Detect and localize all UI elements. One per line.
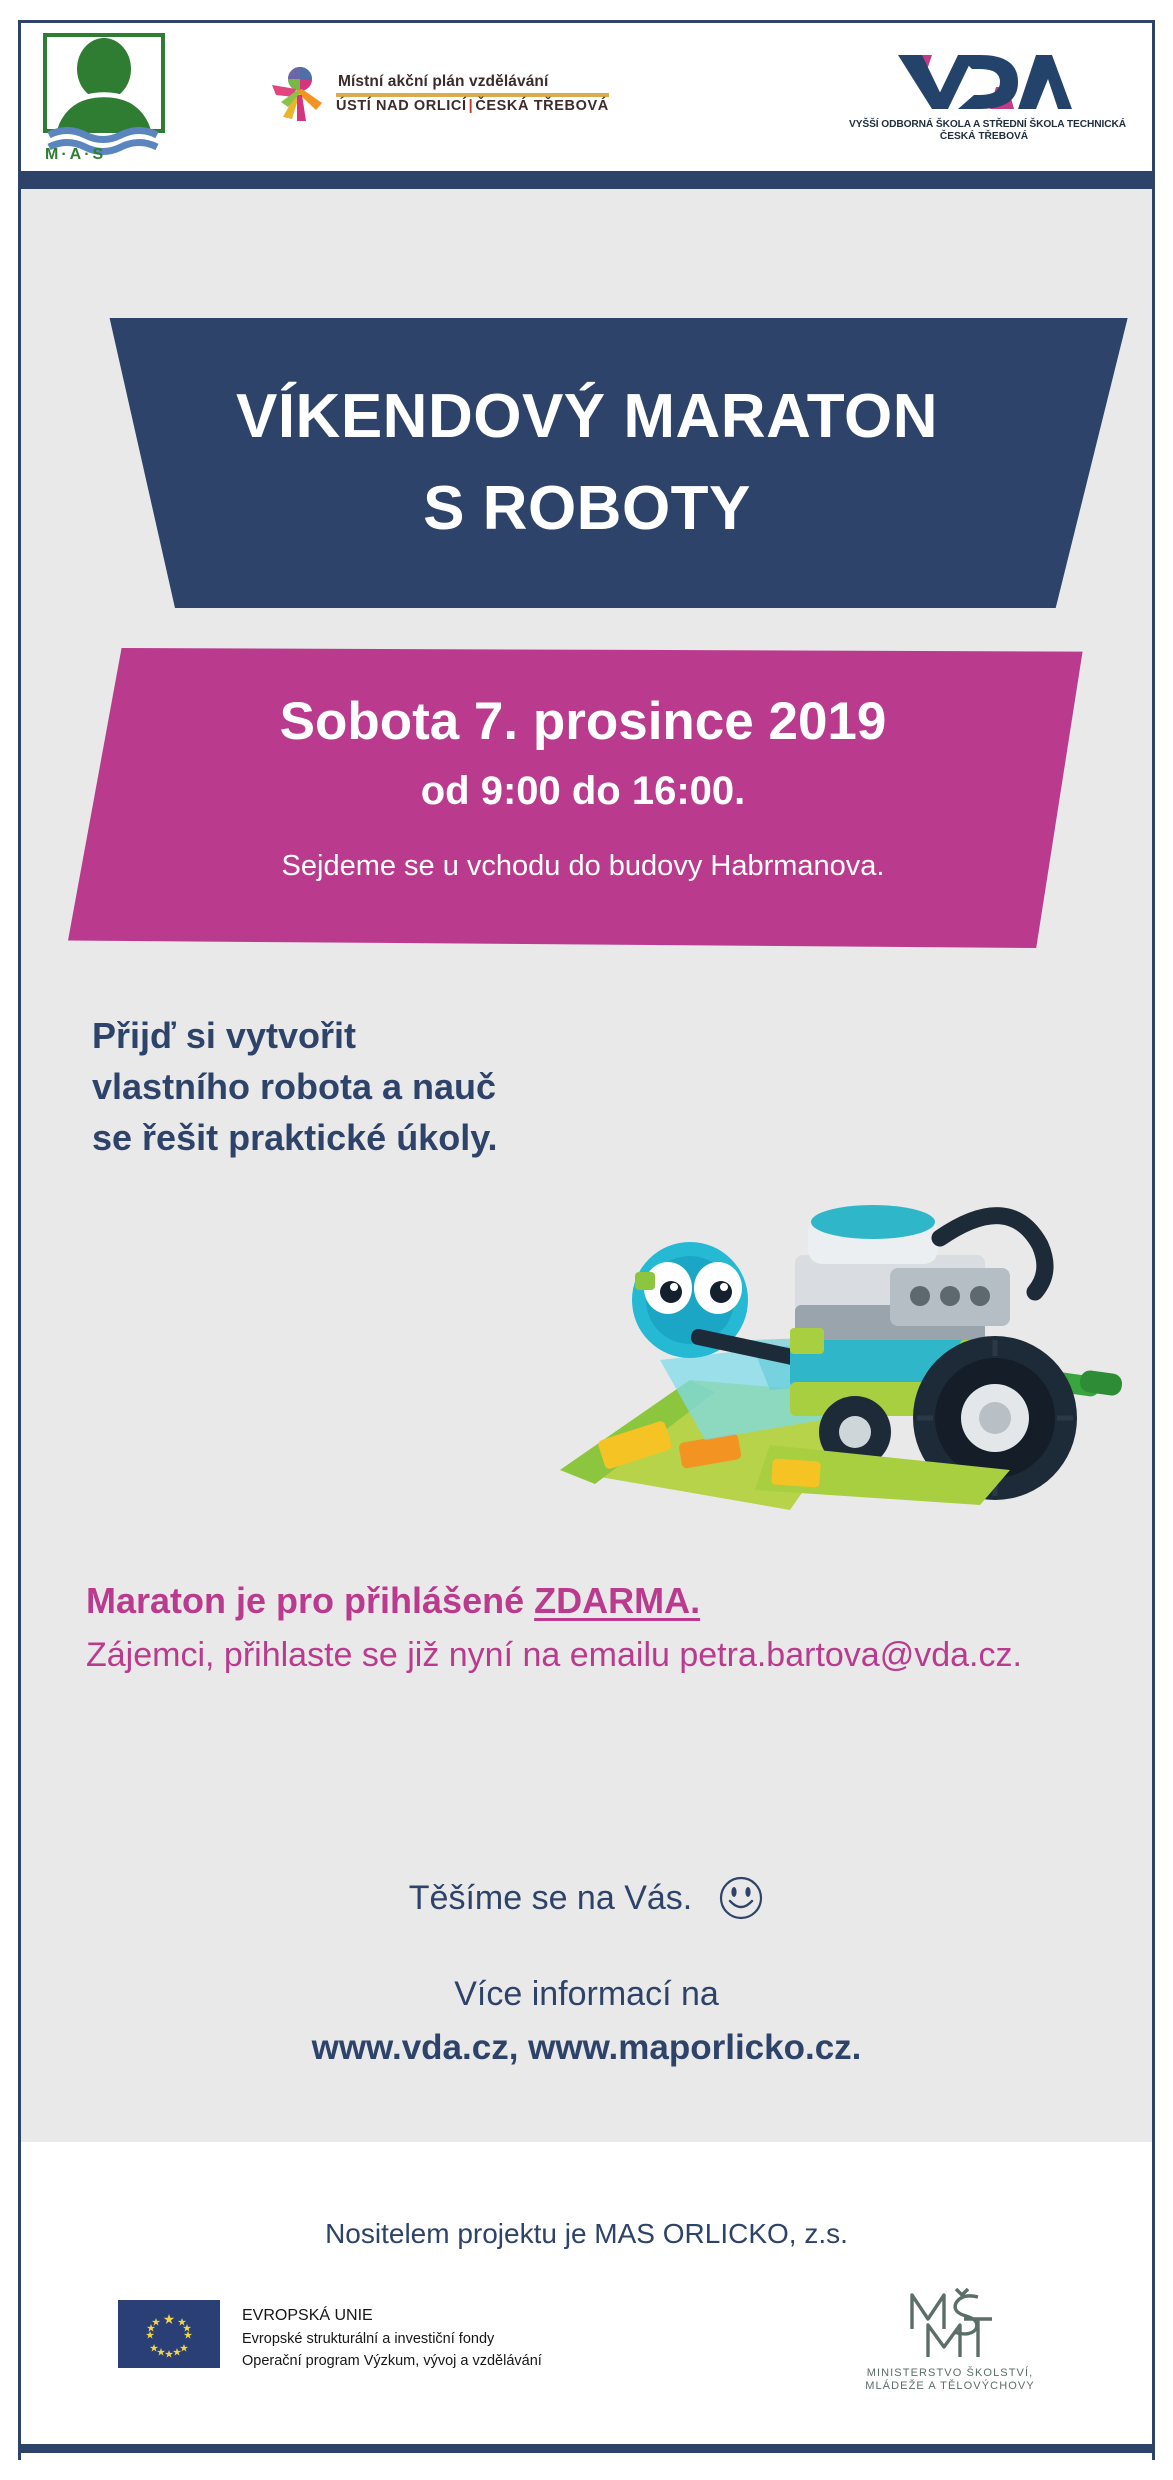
- invite-text: Přijď si vytvořit vlastního robota a nau…: [92, 1010, 522, 1163]
- mas-logo: M·A·S: [41, 31, 181, 161]
- msmt-logo-block: MINISTERSTVO ŠKOLSTVÍ, MLÁDEŽE A TĚLOVÝC…: [855, 2285, 1045, 2392]
- eu-funding-block: EVROPSKÁ UNIE Evropské strukturální a in…: [118, 2300, 542, 2372]
- mas-logo-label: M·A·S: [45, 146, 106, 161]
- map-logo-line2: ÚSTÍ NAD ORLICÍ|ČESKÁ TŘEBOVÁ: [336, 99, 609, 114]
- more-info-block: Více informací na www.vda.cz, www.maporl…: [0, 1975, 1173, 2068]
- title-line2: S ROBOTY: [423, 478, 751, 540]
- more-info-websites[interactable]: www.vda.cz, www.maporlicko.cz.: [0, 2028, 1173, 2068]
- header-logo-strip: M·A·S Místní akční plán vzdělávání: [21, 23, 1152, 171]
- msmt-line1: MINISTERSTVO ŠKOLSTVÍ,: [855, 2367, 1045, 2379]
- free-info-line2: Zájemci, přihlaste se již nyní na emailu…: [86, 1631, 1096, 1679]
- eu-line1: EVROPSKÁ UNIE: [242, 2304, 542, 2328]
- title-line1: VÍKENDOVÝ MARATON: [236, 386, 938, 448]
- map-logo: Místní akční plán vzdělávání ÚSTÍ NAD OR…: [266, 63, 609, 125]
- free-info-zdarma: ZDARMA.: [534, 1580, 700, 1621]
- msmt-line2: MLÁDEŽE A TĚLOVÝCHOVY: [855, 2380, 1045, 2392]
- map-logo-text: Místní akční plán vzdělávání ÚSTÍ NAD OR…: [336, 74, 609, 114]
- date-line1: Sobota 7. prosince 2019: [68, 694, 1098, 749]
- vda-logo: VYŠŠÍ ODBORNÁ ŠKOLA A STŘEDNÍ ŠKOLA TECH…: [849, 51, 1119, 142]
- header-divider: [21, 171, 1152, 189]
- eu-funding-text: EVROPSKÁ UNIE Evropské strukturální a in…: [242, 2300, 542, 2372]
- eu-flag-icon: [118, 2300, 220, 2368]
- vda-logo-sub1: VYŠŠÍ ODBORNÁ ŠKOLA A STŘEDNÍ ŠKOLA TECH…: [849, 119, 1119, 130]
- map-logo-rule: [336, 93, 609, 97]
- eu-line3: Operační program Výzkum, vývoj a vzděláv…: [242, 2350, 542, 2372]
- map-logo-separator: |: [467, 98, 476, 114]
- mas-tree-logo-icon: M·A·S: [41, 31, 181, 161]
- poster-root: M·A·S Místní akční plán vzdělávání: [0, 0, 1173, 2480]
- map-logo-city1: ÚSTÍ NAD ORLICÍ: [336, 98, 467, 114]
- date-line2: od 9:00 do 16:00.: [68, 771, 1098, 813]
- free-info-block: Maraton je pro přihlášené ZDARMA. Zájemc…: [86, 1578, 1096, 1679]
- closing-smile-row: Těšíme se na Vás.: [0, 1875, 1173, 1921]
- project-carrier-line: Nositelem projektu je MAS ORLICKO, z.s.: [0, 2218, 1173, 2250]
- robot-illustration: [540, 1040, 1140, 1560]
- free-info-line1: Maraton je pro přihlášené ZDARMA.: [86, 1578, 1096, 1623]
- vda-logo-mark-icon: [896, 51, 1072, 113]
- map-logo-city2: ČESKÁ TŘEBOVÁ: [475, 98, 608, 114]
- title-banner: VÍKENDOVÝ MARATON S ROBOTY: [42, 318, 1132, 608]
- msmt-logo-mark-icon: [904, 2285, 996, 2363]
- footer-bottom-rule: [21, 2444, 1152, 2453]
- closing-smile-text: Těšíme se na Vás.: [409, 1879, 692, 1918]
- date-banner: Sobota 7. prosince 2019 od 9:00 do 16:00…: [68, 648, 1098, 948]
- map-logo-line1: Místní akční plán vzdělávání: [336, 74, 609, 90]
- lego-wedo-robot-illustration-icon: [540, 1040, 1140, 1560]
- vda-logo-sub2: ČESKÁ TŘEBOVÁ: [849, 131, 1119, 142]
- more-info-label: Více informací na: [0, 1975, 1173, 2014]
- free-info-prefix: Maraton je pro přihlášené: [86, 1580, 534, 1621]
- eu-line2: Evropské strukturální a investiční fondy: [242, 2328, 542, 2350]
- date-line3: Sejdeme se u vchodu do budovy Habrmanova…: [68, 851, 1098, 881]
- smiley-face-icon: [718, 1875, 764, 1921]
- map-figure-logo-icon: [266, 63, 328, 125]
